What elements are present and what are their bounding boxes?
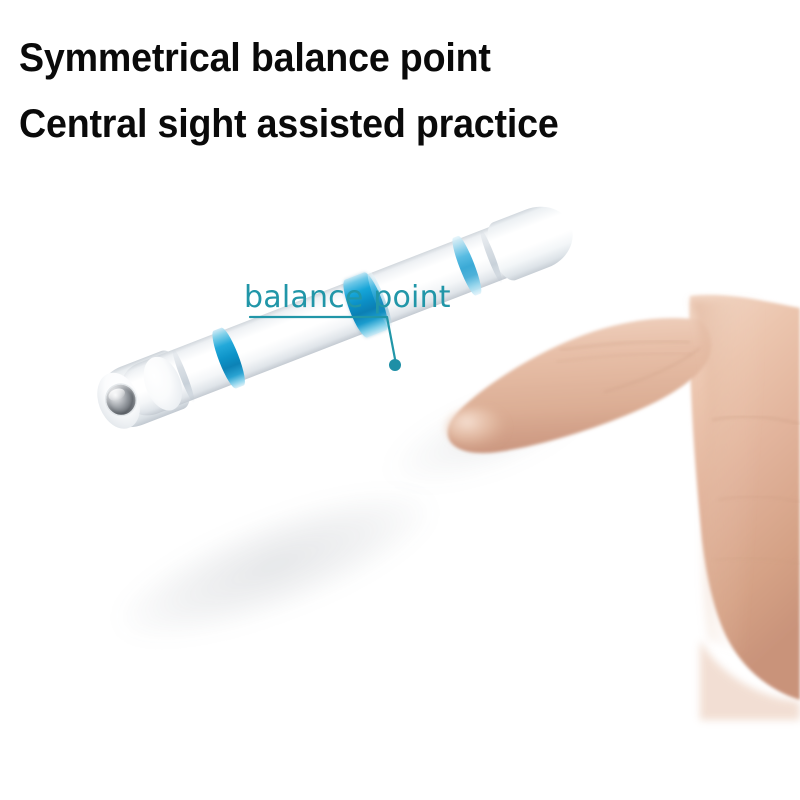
balance-point-label: balance point xyxy=(244,280,451,315)
product-image-canvas: Symmetrical balance point Central sight … xyxy=(0,0,800,800)
